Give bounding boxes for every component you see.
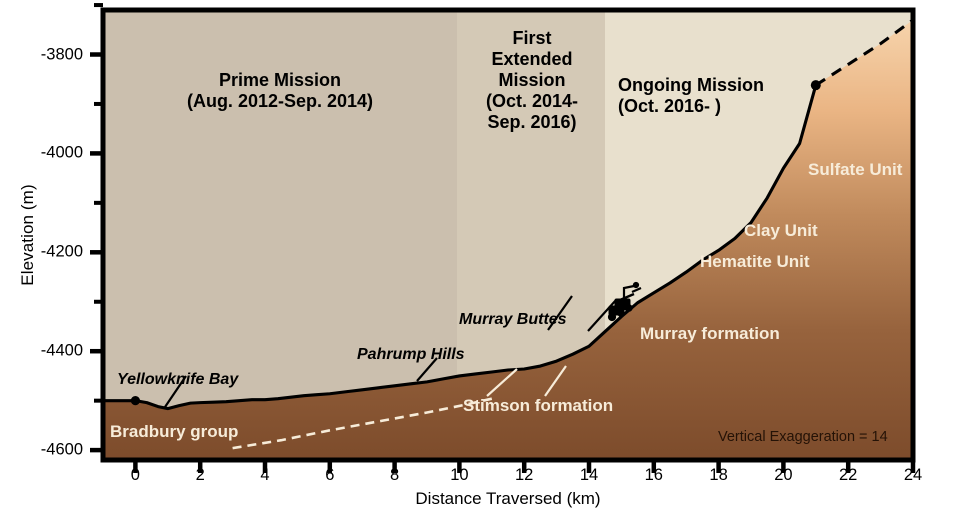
label-bradbury-group: Bradbury group	[110, 422, 238, 442]
label-clay-unit: Clay Unit	[744, 221, 818, 241]
band-title-prime-mission: Prime Mission (Aug. 2012-Sep. 2014)	[150, 70, 410, 112]
band-title-first-extended-mission: First Extended Mission (Oct. 2014- Sep. …	[462, 28, 602, 132]
prime-mission-line-2: (Aug. 2012-Sep. 2014)	[150, 91, 410, 112]
first-extended-line-5: Sep. 2016)	[462, 112, 602, 133]
label-stimson-formation: Stimson formation	[463, 396, 613, 416]
label-pahrump-hills: Pahrump Hills	[357, 346, 465, 364]
first-extended-line-3: Mission	[462, 70, 602, 91]
label-murray-formation: Murray formation	[640, 324, 780, 344]
label-murray-buttes: Murray Buttes	[459, 311, 567, 329]
label-sulfate-unit: Sulfate Unit	[808, 160, 902, 180]
prime-mission-line-1: Prime Mission	[150, 70, 410, 91]
first-extended-line-4: (Oct. 2014-	[462, 91, 602, 112]
first-extended-line-2: Extended	[462, 49, 602, 70]
vertical-exaggeration-note: Vertical Exaggeration = 14	[718, 429, 888, 445]
elevation-profile-figure: Elevation (m) Distance Traversed (km) -3…	[0, 0, 960, 518]
ongoing-mission-line-2: (Oct. 2016- )	[618, 96, 838, 117]
first-extended-line-1: First	[462, 28, 602, 49]
band-title-ongoing-mission: Ongoing Mission (Oct. 2016- )	[618, 75, 838, 117]
label-yellowknife-bay: Yellowknife Bay	[117, 371, 238, 389]
landing-site-marker	[131, 396, 140, 405]
label-hematite-unit: Hematite Unit	[700, 252, 810, 272]
ongoing-mission-line-1: Ongoing Mission	[618, 75, 838, 96]
